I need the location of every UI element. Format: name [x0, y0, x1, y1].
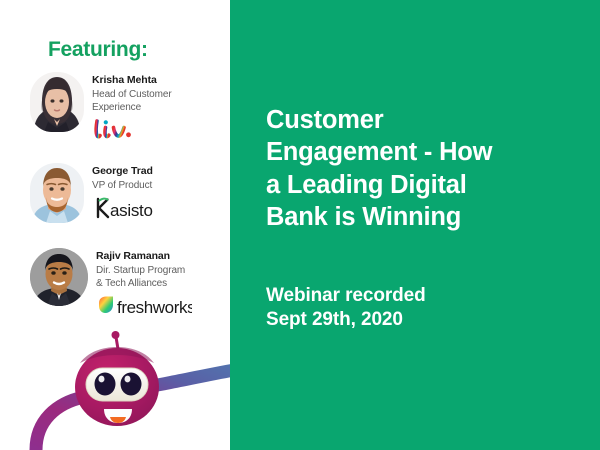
speaker-text-block: Krisha Mehta Head of Customer Experience: [92, 72, 172, 142]
speaker-role: VP of Product: [92, 179, 170, 192]
robot-mascot: [18, 325, 243, 450]
avatar-krisha-mehta: [30, 72, 84, 132]
speaker-name: Rajiv Ramanan: [96, 250, 192, 263]
featuring-heading: Featuring:: [48, 38, 148, 62]
svg-text:asisto: asisto: [110, 201, 153, 219]
speaker-name: Krisha Mehta: [92, 74, 172, 87]
speaker-name: George Trad: [92, 165, 170, 178]
title-panel: Customer Engagement - How a Leading Digi…: [230, 0, 600, 450]
speaker-item: George Trad VP of Product asisto: [30, 163, 230, 223]
freshworks-logo: freshworks: [96, 294, 192, 318]
webinar-promo-card: Featuring:: [0, 0, 600, 450]
kasisto-logo: asisto: [92, 196, 170, 220]
title-panel-content: Customer Engagement - How a Leading Digi…: [266, 104, 576, 234]
avatar-rajiv-ramanan: [30, 248, 88, 306]
avatar-george-trad: [30, 163, 84, 223]
liv-logo: [92, 118, 172, 142]
speaker-text-block: George Trad VP of Product asisto: [92, 163, 170, 220]
webinar-title: Customer Engagement - How a Leading Digi…: [266, 104, 576, 234]
webinar-date: Webinar recorded Sept 29th, 2020: [266, 284, 426, 333]
speaker-item: Krisha Mehta Head of Customer Experience: [30, 72, 230, 142]
speakers-panel: Featuring:: [0, 0, 230, 450]
svg-text:freshworks: freshworks: [117, 298, 192, 317]
speaker-text-block: Rajiv Ramanan Dir. Startup Program & Tec…: [96, 248, 192, 318]
speaker-role: Head of Customer Experience: [92, 88, 172, 114]
speaker-role: Dir. Startup Program & Tech Alliances: [96, 264, 192, 290]
speaker-item: Rajiv Ramanan Dir. Startup Program & Tec…: [30, 248, 230, 318]
